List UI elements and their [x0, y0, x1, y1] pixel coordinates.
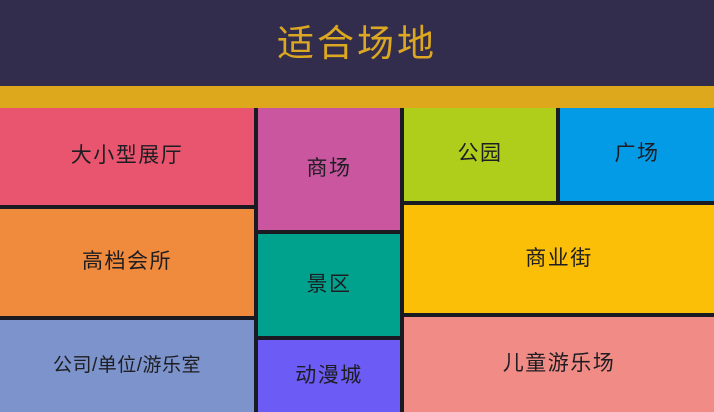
tile-anime-arcade[interactable]: 动漫城: [258, 340, 400, 412]
page-title: 适合场地: [277, 25, 437, 62]
tile-label: 公园: [458, 142, 503, 166]
tile-label: 商场: [307, 157, 352, 181]
tile-label: 大小型展厅: [71, 144, 184, 168]
tile-label: 公司/单位/游乐室: [53, 355, 201, 377]
tile-label: 儿童游乐场: [503, 352, 616, 376]
tile-park[interactable]: 公园: [404, 108, 556, 201]
tile-label: 商业街: [525, 247, 593, 271]
tile-childrens-playground[interactable]: 儿童游乐场: [404, 317, 714, 412]
tile-commercial-street[interactable]: 商业街: [404, 205, 714, 313]
tile-scenic-area[interactable]: 景区: [258, 234, 400, 336]
tile-label: 景区: [307, 273, 352, 297]
tile-shopping-mall[interactable]: 商场: [258, 108, 400, 230]
tile-label: 高档会所: [82, 250, 172, 274]
tile-label: 广场: [615, 142, 660, 166]
tile-plaza[interactable]: 广场: [560, 108, 714, 201]
accent-divider-bar: [0, 86, 714, 108]
venue-tile-grid: 大小型展厅商场公园广场高档会所景区商业街公司/单位/游乐室动漫城儿童游乐场: [0, 108, 714, 412]
tile-label: 动漫城: [295, 364, 363, 388]
tile-upscale-club[interactable]: 高档会所: [0, 209, 254, 316]
header-banner: 适合场地: [0, 0, 714, 86]
tile-exhibition-hall[interactable]: 大小型展厅: [0, 108, 254, 205]
tile-company-unit-playroom[interactable]: 公司/单位/游乐室: [0, 320, 254, 412]
infographic-page: 适合场地 大小型展厅商场公园广场高档会所景区商业街公司/单位/游乐室动漫城儿童游…: [0, 0, 714, 412]
